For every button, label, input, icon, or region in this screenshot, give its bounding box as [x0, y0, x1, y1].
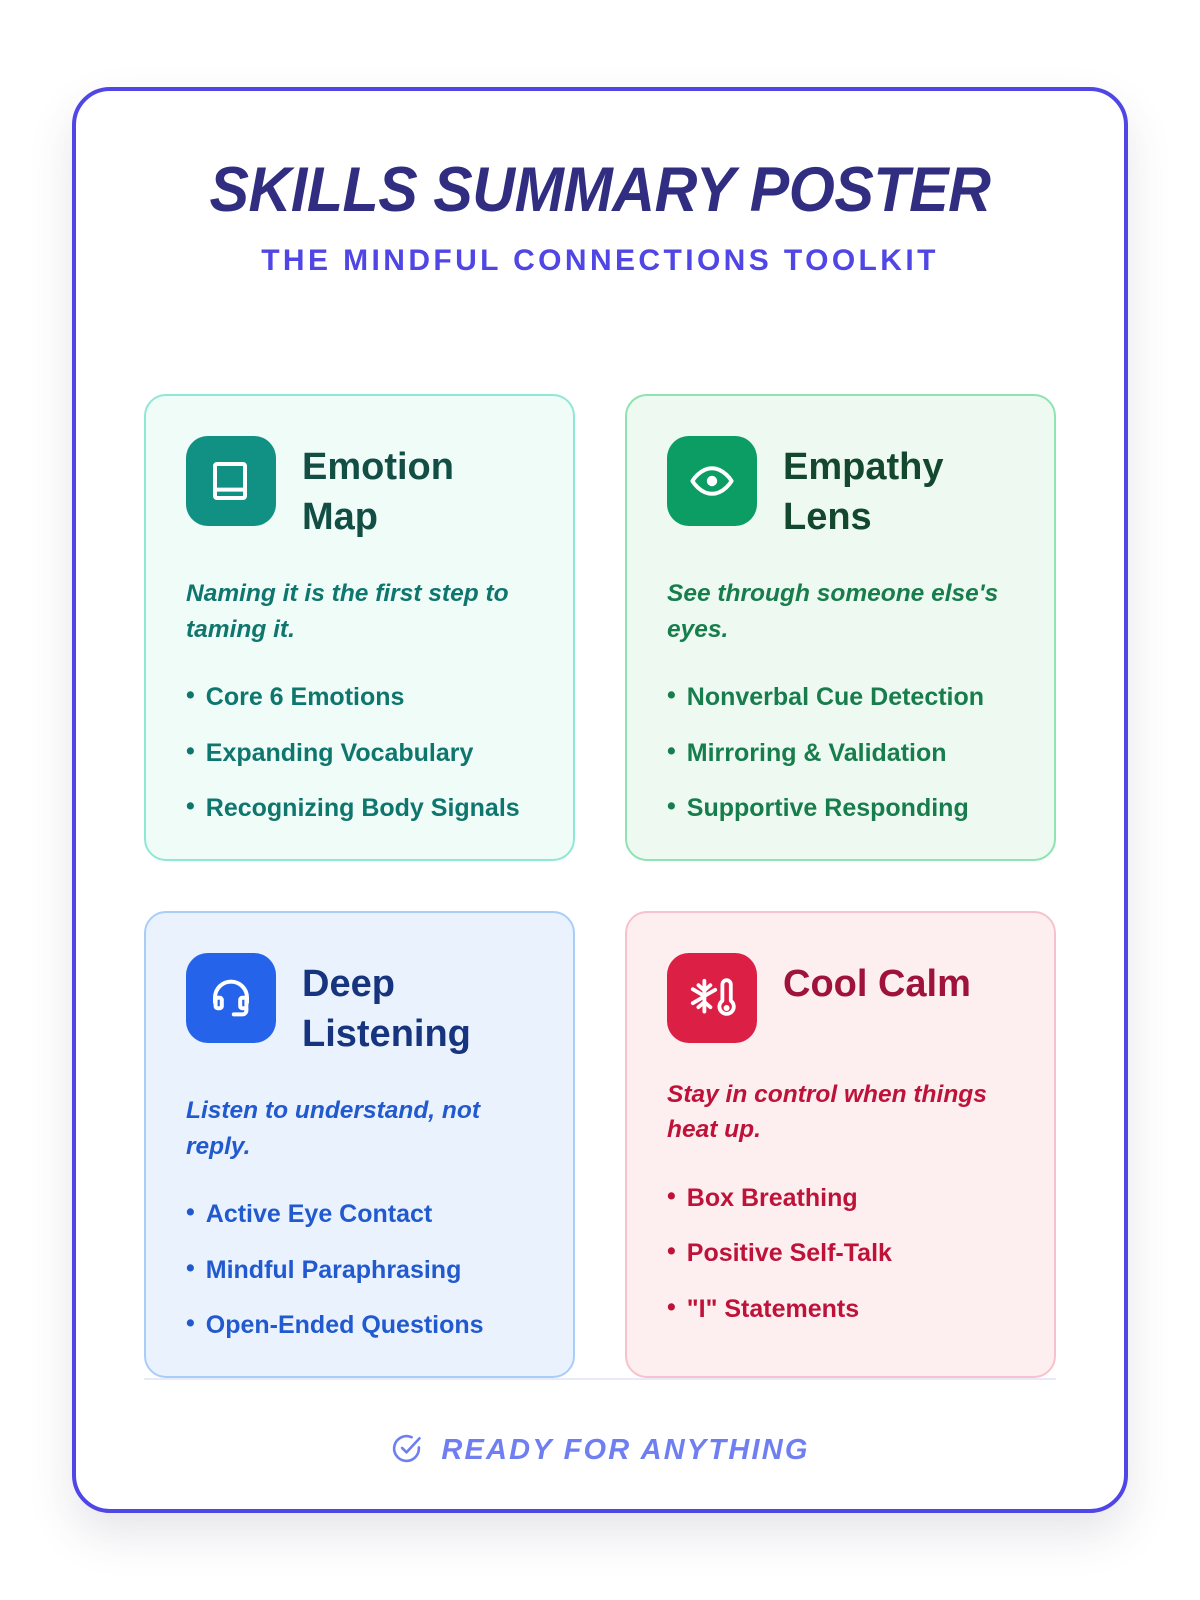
list-item-label: Core 6 Emotions [206, 681, 405, 714]
book-icon [186, 436, 276, 526]
bullet-icon: • [667, 737, 676, 770]
list-item: • Recognizing Body Signals [186, 792, 535, 825]
card-skill-list: • Nonverbal Cue Detection • Mirroring & … [667, 681, 1016, 825]
poster-footer: READY FOR ANYTHING [144, 1378, 1056, 1504]
skill-card-deep-listening[interactable]: Deep Listening Listen to understand, not… [144, 911, 575, 1378]
page-subtitle: THE MINDFUL CONNECTIONS TOOLKIT [144, 244, 1056, 278]
list-item-label: Expanding Vocabulary [206, 737, 474, 770]
card-tagline: See through someone else's eyes. [667, 576, 1016, 647]
footer-bar: READY FOR ANYTHING [144, 1380, 1056, 1504]
list-item: • Open-Ended Questions [186, 1309, 535, 1342]
list-item: • Mirroring & Validation [667, 737, 1016, 770]
bullet-icon: • [186, 737, 195, 770]
card-header: Deep Listening [186, 953, 535, 1059]
poster-header: SKILLS SUMMARY POSTER THE MINDFUL CONNEC… [144, 149, 1056, 278]
thermometer-snowflake-icon [667, 953, 757, 1043]
bullet-icon: • [667, 1237, 676, 1270]
list-item-label: Active Eye Contact [206, 1198, 432, 1231]
list-item: • Supportive Responding [667, 792, 1016, 825]
card-title: Emotion Map [302, 436, 532, 542]
list-item-label: Nonverbal Cue Detection [687, 681, 984, 714]
list-item: • Positive Self-Talk [667, 1237, 1016, 1270]
list-item-label: Recognizing Body Signals [206, 792, 520, 825]
list-item-label: Open-Ended Questions [206, 1309, 484, 1342]
footer-tagline: READY FOR ANYTHING [441, 1434, 809, 1467]
list-item-label: Box Breathing [687, 1182, 858, 1215]
page-title: SKILLS SUMMARY POSTER [171, 159, 1028, 222]
skill-card-emotion-map[interactable]: Emotion Map Naming it is the first step … [144, 394, 575, 861]
circle-check-icon [390, 1432, 423, 1470]
bullet-icon: • [667, 1182, 676, 1215]
card-title: Cool Calm [783, 953, 971, 1009]
list-item: • Active Eye Contact [186, 1198, 535, 1231]
card-skill-list: • Core 6 Emotions • Expanding Vocabulary… [186, 681, 535, 825]
card-title: Empathy Lens [783, 436, 1013, 542]
skill-card-cool-calm[interactable]: Cool Calm Stay in control when things he… [625, 911, 1056, 1378]
list-item-label: Mirroring & Validation [687, 737, 947, 770]
card-header: Cool Calm [667, 953, 1016, 1043]
bullet-icon: • [186, 1254, 195, 1287]
list-item: • "I" Statements [667, 1293, 1016, 1326]
bullet-icon: • [667, 792, 676, 825]
card-header: Emotion Map [186, 436, 535, 542]
bullet-icon: • [667, 1293, 676, 1326]
list-item: • Core 6 Emotions [186, 681, 535, 714]
bullet-icon: • [186, 681, 195, 714]
card-title: Deep Listening [302, 953, 532, 1059]
list-item-label: Positive Self-Talk [687, 1237, 892, 1270]
eye-icon [667, 436, 757, 526]
card-skill-list: • Box Breathing • Positive Self-Talk • "… [667, 1182, 1016, 1326]
list-item-label: "I" Statements [687, 1293, 859, 1326]
card-tagline: Naming it is the first step to taming it… [186, 576, 535, 647]
bullet-icon: • [186, 1198, 195, 1231]
card-header: Empathy Lens [667, 436, 1016, 542]
card-skill-list: • Active Eye Contact • Mindful Paraphras… [186, 1198, 535, 1342]
list-item: • Box Breathing [667, 1182, 1016, 1215]
list-item-label: Supportive Responding [687, 792, 969, 825]
skill-card-grid: Emotion Map Naming it is the first step … [144, 394, 1056, 1378]
bullet-icon: • [186, 1309, 195, 1342]
bullet-icon: • [186, 792, 195, 825]
poster-frame: SKILLS SUMMARY POSTER THE MINDFUL CONNEC… [72, 87, 1128, 1513]
list-item: • Nonverbal Cue Detection [667, 681, 1016, 714]
headset-icon [186, 953, 276, 1043]
list-item: • Mindful Paraphrasing [186, 1254, 535, 1287]
list-item-label: Mindful Paraphrasing [206, 1254, 462, 1287]
card-tagline: Stay in control when things heat up. [667, 1077, 1016, 1148]
card-tagline: Listen to understand, not reply. [186, 1093, 535, 1164]
bullet-icon: • [667, 681, 676, 714]
skill-card-empathy-lens[interactable]: Empathy Lens See through someone else's … [625, 394, 1056, 861]
list-item: • Expanding Vocabulary [186, 737, 535, 770]
